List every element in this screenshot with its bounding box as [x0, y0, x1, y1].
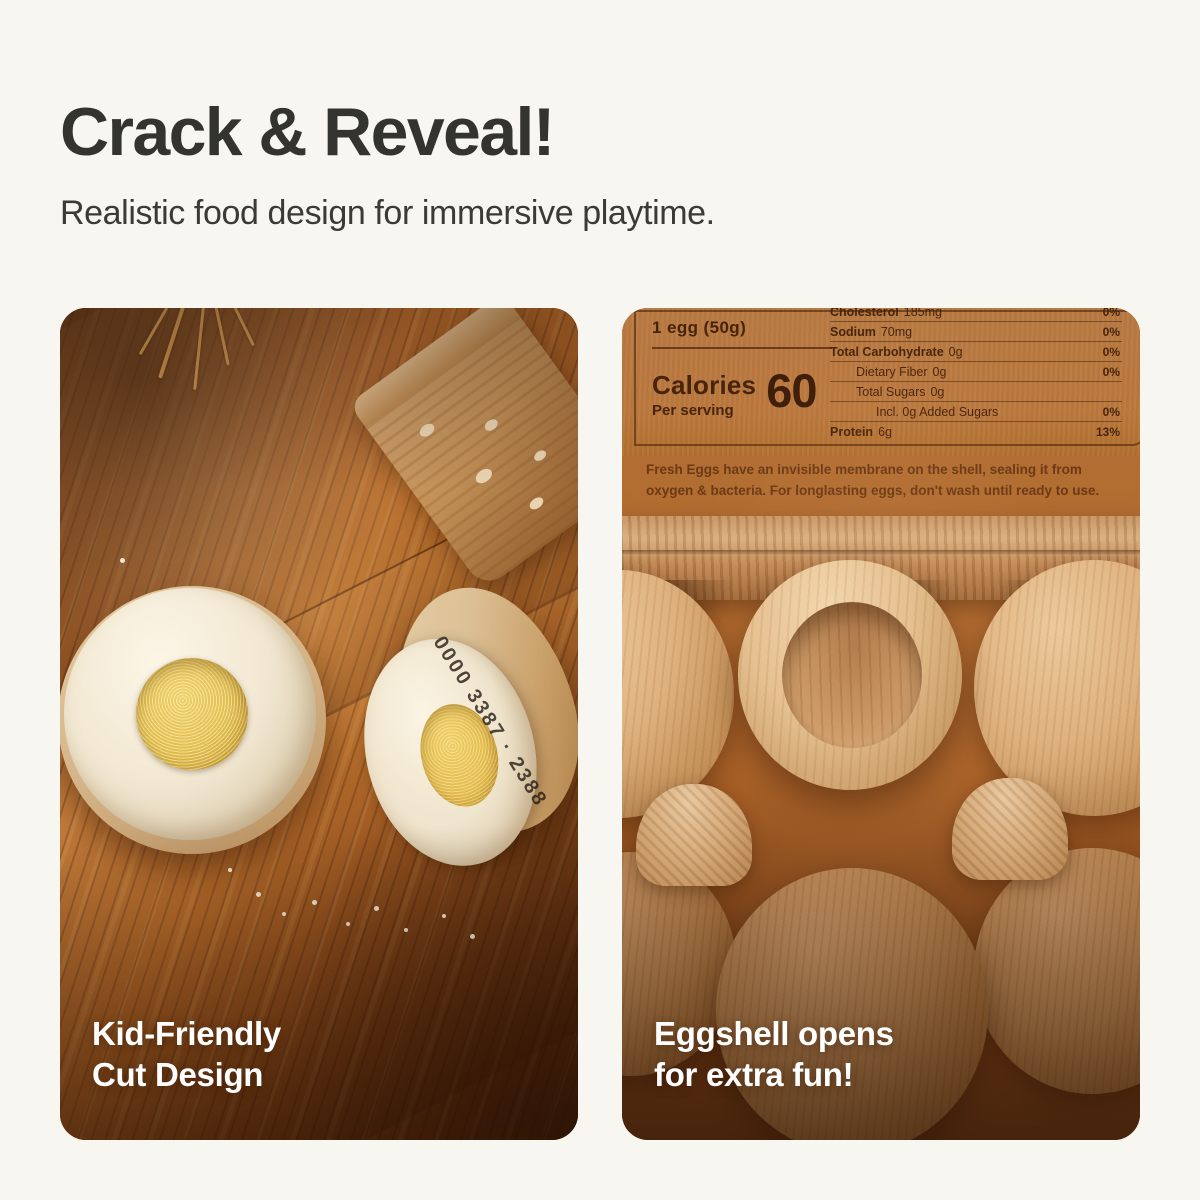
nutrition-calories-value: 60 [766, 363, 816, 418]
nutrition-row: Incl. 0g Added Sugars 0% [830, 402, 1122, 422]
nutrient-amount: 185mg [904, 308, 942, 319]
bread-crumb [527, 495, 545, 512]
eggshell-opening [782, 602, 922, 748]
nutrient-amount: 0g [933, 365, 947, 379]
nutrient-name: Total Sugars [856, 385, 925, 399]
salt-grain [256, 892, 261, 897]
bread-crumb [483, 417, 500, 433]
salt-grain [120, 558, 125, 563]
nutrient-name: Total Carbohydrate [830, 345, 944, 359]
header: Crack & Reveal! Realistic food design fo… [60, 98, 1140, 233]
page-title: Crack & Reveal! [60, 98, 1140, 166]
nutrition-serving-size: 1 egg (50g) [652, 318, 852, 338]
page-subtitle: Realistic food design for immersive play… [60, 194, 1140, 233]
bread-crumb [532, 448, 548, 463]
nutrition-serving-block: 1 egg (50g) Calories Per serving 60 [652, 318, 852, 418]
nutrition-row: Total Carbohydrate0g 0% [830, 342, 1122, 362]
bread-crumb [417, 421, 436, 439]
feature-card-eggshell-opens[interactable]: 1 egg (50g) Calories Per serving 60 [622, 308, 1140, 1140]
nutrition-facts-label: 1 egg (50g) Calories Per serving 60 [622, 308, 1140, 456]
egg-yolk [136, 658, 248, 770]
nutrient-daily-value: 0% [1103, 405, 1120, 419]
salt-grain [442, 914, 446, 918]
salt-grain [374, 906, 379, 911]
nutrient-daily-value: 0% [1103, 308, 1120, 319]
nutrient-daily-value: 0% [1103, 345, 1120, 359]
nutrition-row: Total Sugars0g [830, 382, 1122, 402]
nutrition-row: Protein6g 13% [830, 422, 1122, 441]
nutrient-amount: 6g [878, 425, 892, 439]
nutrition-calories-row: Calories Per serving 60 [652, 363, 852, 418]
nutrition-divider [652, 347, 832, 349]
nutrition-calories-label: Calories [652, 372, 756, 398]
nutrition-row: Sodium70mg 0% [830, 322, 1122, 342]
nutrient-daily-value: 0% [1103, 365, 1120, 379]
open-wooden-eggshell-ring [738, 560, 962, 790]
wooden-egg [716, 868, 988, 1140]
nutrient-amount: 0g [949, 345, 963, 359]
salt-grain [282, 912, 286, 916]
nutrition-rows: Cholesterol185mg 0% Sodium70mg 0% Total … [830, 308, 1122, 441]
card-caption: Eggshell opens for extra fun! [654, 1013, 894, 1096]
nutrition-row: Dietary Fiber0g 0% [830, 362, 1122, 382]
salt-grain [404, 928, 408, 932]
card-caption: Kid-Friendly Cut Design [92, 1013, 281, 1096]
nutrient-daily-value: 0% [1103, 325, 1120, 339]
nutrition-per-serving-label: Per serving [652, 403, 756, 418]
nutrient-name: Incl. 0g Added Sugars [876, 405, 998, 419]
promo-page: Crack & Reveal! Realistic food design fo… [0, 0, 1200, 1200]
salt-grain [346, 922, 350, 926]
salt-grain [228, 868, 232, 872]
nutrition-row: Cholesterol185mg 0% [830, 308, 1122, 322]
nutrient-amount: 0g [930, 385, 944, 399]
feature-card-grid: 0000 3387 · 2388 Kid-Friendly Cut Design [60, 308, 1140, 1140]
nutrient-name: Dietary Fiber [856, 365, 928, 379]
nutrient-name: Sodium [830, 325, 876, 339]
bread-crumb [473, 466, 495, 486]
wooden-egg-half-left [60, 586, 326, 854]
nutrient-name: Protein [830, 425, 873, 439]
feature-card-kid-friendly-cut[interactable]: 0000 3387 · 2388 Kid-Friendly Cut Design [60, 308, 578, 1140]
salt-grain [312, 900, 317, 905]
nutrient-amount: 70mg [881, 325, 912, 339]
carton-freshness-note: Fresh Eggs have an invisible membrane on… [646, 460, 1126, 502]
nutrient-name: Cholesterol [830, 308, 899, 319]
salt-grain [470, 934, 475, 939]
nutrition-calories-text: Calories Per serving [652, 372, 756, 418]
nutrient-daily-value: 13% [1096, 425, 1120, 439]
